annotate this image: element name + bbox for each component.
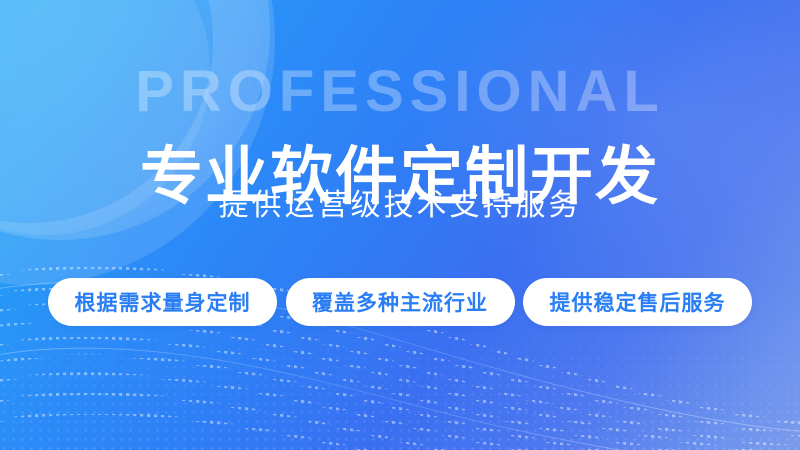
feature-pill-label: 根据需求量身定制 [75,287,251,317]
feature-pill-label: 提供稳定售后服务 [550,287,726,317]
feature-pill-support[interactable]: 提供稳定售后服务 [523,278,752,326]
banner-content: PROFESSIONAL 专业软件定制开发 提供运营级技术支持服务 根据需求量身… [0,0,800,450]
promo-banner: PROFESSIONAL 专业软件定制开发 提供运营级技术支持服务 根据需求量身… [0,0,800,450]
feature-pill-label: 覆盖多种主流行业 [312,287,488,317]
feature-pill-custom[interactable]: 根据需求量身定制 [48,278,277,326]
feature-pill-group: 根据需求量身定制 覆盖多种主流行业 提供稳定售后服务 [48,278,752,326]
watermark-text: PROFESSIONAL [0,63,800,121]
feature-pill-industries[interactable]: 覆盖多种主流行业 [286,278,515,326]
page-subtitle: 提供运营级技术支持服务 [0,188,800,224]
